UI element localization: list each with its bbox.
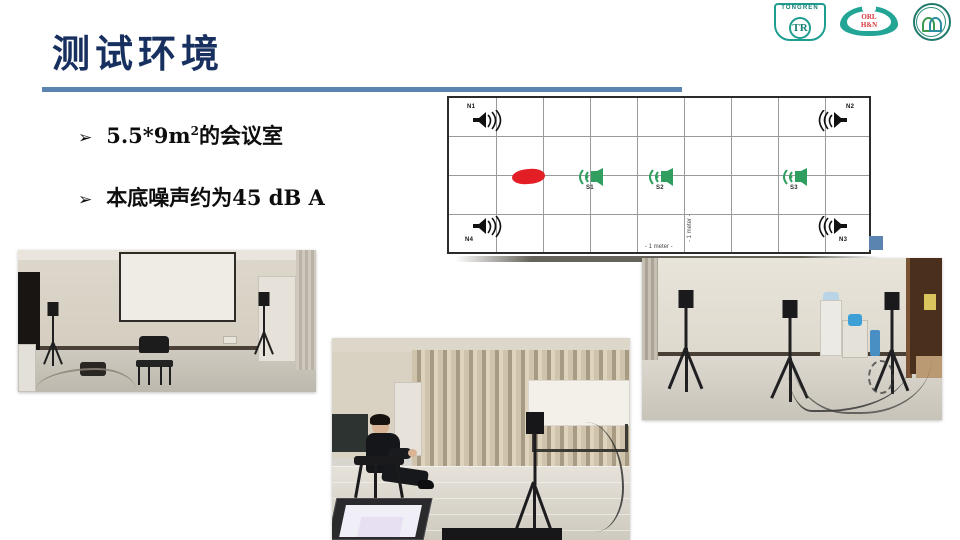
photo-equipment-box <box>18 344 36 392</box>
speaker-s3-label: S3 <box>790 185 798 191</box>
tripod-pole <box>891 309 894 353</box>
noise-source-n2: N2 <box>815 110 849 134</box>
speaker-s3: S3 <box>779 168 809 191</box>
chair-leg <box>354 464 363 498</box>
photo-blue-bin <box>848 314 862 326</box>
listener-position-marker <box>512 168 546 185</box>
page-title: 测试环境 <box>52 30 224 78</box>
tripod-leg <box>668 347 687 389</box>
speaker-icon <box>815 216 849 238</box>
floor-cables <box>528 422 624 532</box>
chair-leg <box>374 464 377 498</box>
slide-root: TONGREN TR ORL H&N 测试环境 ➢ 5.5*9m2的会议室 <box>0 0 960 540</box>
chair-leg <box>169 365 171 385</box>
speaker-icon <box>471 110 505 132</box>
noise-source-n3: N3 <box>815 216 849 240</box>
photo-three-speakers <box>642 258 942 420</box>
tripod-leg <box>685 348 688 392</box>
orl-line-2: H&N <box>861 21 877 29</box>
orl-hn-logo: ORL H&N <box>840 4 898 40</box>
photo-blackboard <box>332 414 368 452</box>
dimension-label-vertical: - 1 meter - <box>687 214 693 242</box>
photo-doorway <box>18 272 40 350</box>
tongren-wordmark: TONGREN <box>774 5 826 11</box>
speaker-box <box>48 302 59 316</box>
orl-notch <box>862 4 876 13</box>
laptop-device <box>332 498 432 540</box>
projection-screen <box>119 252 236 322</box>
speaker-box <box>259 292 270 306</box>
speaker-s2: S2 <box>645 168 675 191</box>
bullet-1-prefix: 本底噪声约为45 dB A <box>106 185 325 210</box>
folding-chair <box>136 336 174 384</box>
speaker-on-tripod <box>664 290 708 390</box>
photo-meeting-room-screen <box>18 250 316 392</box>
speaker-s2-label: S2 <box>656 185 664 191</box>
photo-door-notice <box>924 294 936 310</box>
grid-line-horizontal <box>449 136 869 137</box>
bullet-list: ➢ 5.5*9m2的会议室 ➢ 本底噪声约为45 dB A <box>78 118 438 247</box>
photo-wall-vent <box>223 336 237 344</box>
chair-leg <box>160 365 162 385</box>
tripod-leg <box>52 342 54 366</box>
speaker-icon <box>815 110 849 132</box>
folding-chair <box>354 456 406 502</box>
university-seal-logo <box>912 3 952 41</box>
tongren-monogram: TR <box>789 17 811 39</box>
bullet-item-room-size: ➢ 5.5*9m2的会议室 <box>78 118 438 149</box>
laptop-screen-content <box>357 517 403 537</box>
bullet-text-room-size: 5.5*9m2的会议室 <box>106 118 283 149</box>
chair-leg <box>138 365 140 385</box>
speaker-on-tripod <box>248 292 280 364</box>
person-hair <box>370 414 390 425</box>
chair-leg <box>148 365 150 385</box>
person-shoe <box>418 480 434 489</box>
chair-leg <box>395 464 404 498</box>
bullet-0-superscript: 2 <box>191 124 199 138</box>
title-underline-rule-extension <box>452 87 682 92</box>
seal-emblem-icon <box>922 17 942 29</box>
bullet-0-suffix: 的会议室 <box>199 123 283 148</box>
dimension-label-horizontal: - 1 meter - <box>645 244 673 250</box>
coiled-cable <box>868 360 894 394</box>
bullet-item-noise-floor: ➢ 本底噪声约为45 dB A <box>78 185 438 211</box>
speaker-icon <box>645 168 675 186</box>
tripod-pole <box>685 307 688 351</box>
noise-source-n4: N4 <box>471 216 505 240</box>
grid-line-horizontal <box>449 214 869 215</box>
photo-seated-subject <box>332 338 630 540</box>
water-dispenser <box>820 300 842 356</box>
speaker-box <box>885 292 900 310</box>
laptop-screen <box>339 505 422 537</box>
title-underline-rule <box>42 87 452 92</box>
speaker-box <box>783 300 798 318</box>
accent-corner-block <box>869 236 883 250</box>
speaker-icon <box>471 216 505 238</box>
logo-bar: TONGREN TR ORL H&N <box>774 3 952 41</box>
bullet-arrow-icon: ➢ <box>78 192 92 209</box>
foreground-dark-edge <box>442 528 562 540</box>
bullet-0-prefix: 5.5*9m <box>106 123 190 148</box>
speaker-icon <box>575 168 605 186</box>
photo-curtain <box>642 258 658 360</box>
chair-back <box>139 336 169 353</box>
speaker-s1: S1 <box>575 168 605 191</box>
tripod-leg <box>263 332 265 356</box>
speaker-icon <box>779 168 809 186</box>
bullet-arrow-icon: ➢ <box>78 130 92 147</box>
room-layout-diagram: N1 N2 N3 <box>447 96 871 254</box>
speaker-on-tripod <box>40 302 66 362</box>
bullet-text-noise-floor: 本底噪声约为45 dB A <box>106 185 325 211</box>
speaker-s1-label: S1 <box>586 185 594 191</box>
chair-seat <box>136 360 173 367</box>
tongren-logo: TONGREN TR <box>774 3 826 41</box>
orl-text: ORL H&N <box>840 14 898 29</box>
speaker-box <box>679 290 694 308</box>
noise-source-n1: N1 <box>471 110 505 134</box>
photo-curtain <box>296 250 316 370</box>
person-hand <box>408 449 417 457</box>
tripod-pole <box>789 317 792 361</box>
